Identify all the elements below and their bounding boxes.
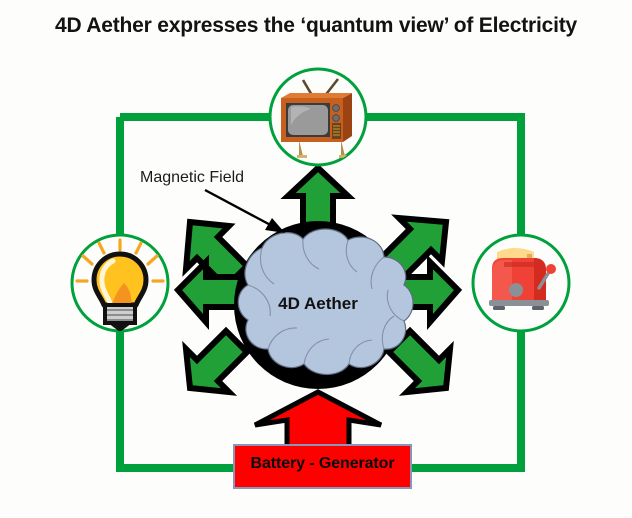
appliance-light-bulb[interactable] [72, 235, 168, 332]
battery-feed-arrow [255, 392, 381, 447]
field-arrow-lower-left [186, 331, 247, 392]
aether-node [234, 221, 413, 389]
battery-generator-box[interactable] [234, 445, 411, 488]
appliance-toaster[interactable] [473, 235, 569, 331]
diagram-graphics [0, 0, 632, 518]
diagram-canvas: 4D Aether expresses the ‘quantum view’ o… [0, 0, 632, 518]
appliance-television[interactable] [270, 69, 366, 165]
